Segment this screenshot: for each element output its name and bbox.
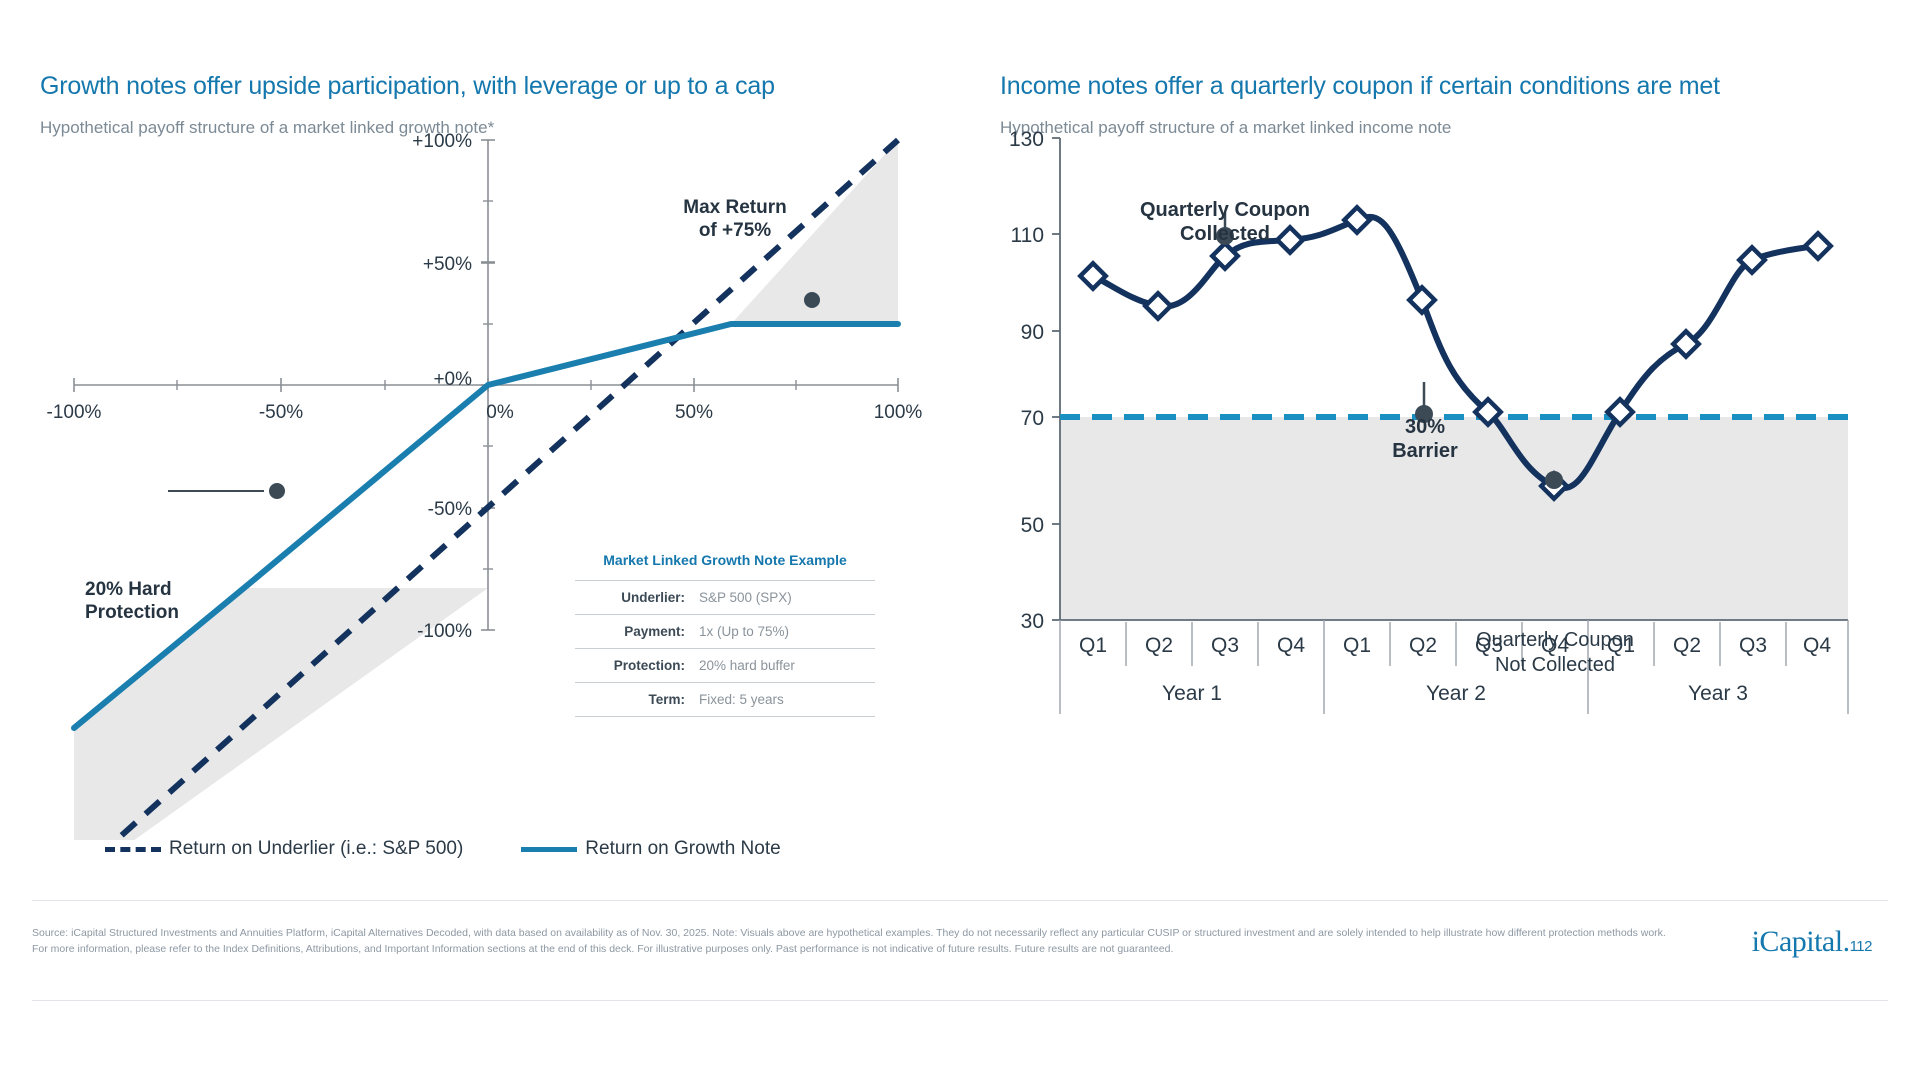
- row-value: Fixed: 5 years: [699, 692, 784, 707]
- table-row: Underlier: S&P 500 (SPX): [575, 580, 875, 614]
- annotation-max-return: Max Return of +75%: [640, 196, 830, 242]
- svg-text:110: 110: [1011, 224, 1044, 247]
- svg-text:0%: 0%: [486, 402, 514, 423]
- x-tick-label: Q3: [1739, 634, 1767, 657]
- row-key: Underlier:: [575, 590, 699, 605]
- legend-label: Return on Growth Note: [585, 838, 780, 860]
- x-group-label: Year 1: [1162, 682, 1222, 705]
- legend-item-underlier[interactable]: Return on Underlier (i.e.: S&P 500): [105, 838, 463, 860]
- brand-logo: iCapital.112: [1752, 925, 1872, 959]
- annotation-barrier: 30% Barrier: [1355, 415, 1495, 464]
- svg-text:+0%: +0%: [433, 369, 472, 390]
- footer-divider-top: [32, 900, 1888, 901]
- row-value: S&P 500 (SPX): [699, 590, 792, 605]
- x-group-label: Year 3: [1688, 682, 1748, 705]
- svg-text:-50%: -50%: [259, 402, 303, 423]
- left-panel-title: Growth notes offer upside participation,…: [40, 72, 775, 101]
- svg-text:-100%: -100%: [47, 402, 102, 423]
- footer-divider-bottom: [32, 1000, 1888, 1001]
- income-notes-panel: Income notes offer a quarterly coupon if…: [960, 0, 1920, 1000]
- svg-text:+50%: +50%: [423, 254, 472, 275]
- annotation-hard-protection: 20% Hard Protection: [85, 578, 185, 624]
- page-number: 112: [1850, 938, 1872, 955]
- svg-text:70: 70: [1021, 407, 1044, 430]
- growth-chart-legend: Return on Underlier (i.e.: S&P 500) Retu…: [105, 838, 781, 860]
- income-note-chart: 130 110 90 70 50 30: [960, 120, 1920, 840]
- svg-text:50%: 50%: [675, 402, 713, 423]
- legend-item-growth-note[interactable]: Return on Growth Note: [521, 838, 780, 860]
- svg-text:130: 130: [1009, 128, 1044, 151]
- x-tick-label: Q2: [1145, 634, 1173, 657]
- row-key: Payment:: [575, 624, 699, 639]
- growth-note-table-title: Market Linked Growth Note Example: [575, 552, 875, 580]
- x-tick-label: Q4: [1803, 634, 1831, 657]
- svg-text:-50%: -50%: [428, 499, 472, 520]
- right-panel-title: Income notes offer a quarterly coupon if…: [1000, 72, 1720, 101]
- footer-source-text: Source: iCapital Structured Investments …: [32, 925, 1672, 958]
- dashed-line-icon: [105, 847, 161, 852]
- x-tick-label: Q1: [1079, 634, 1107, 657]
- row-key: Term:: [575, 692, 699, 707]
- growth-notes-panel: Growth notes offer upside participation,…: [0, 0, 960, 1000]
- svg-text:+100%: +100%: [412, 131, 472, 152]
- x-tick-label: Q3: [1211, 634, 1239, 657]
- solid-line-icon: [521, 847, 577, 852]
- brand-name: iCapital.: [1752, 925, 1850, 958]
- svg-text:-100%: -100%: [417, 621, 472, 642]
- svg-text:50: 50: [1021, 514, 1044, 537]
- slide: Growth notes offer upside participation,…: [0, 0, 1920, 1080]
- row-value: 20% hard buffer: [699, 658, 795, 673]
- x-tick-label: Q1: [1343, 634, 1371, 657]
- annotation-coupon-collected: Quarterly Coupon Collected: [1110, 198, 1340, 247]
- svg-text:90: 90: [1021, 321, 1044, 344]
- x-group-label: Year 2: [1426, 682, 1486, 705]
- table-row: Payment: 1x (Up to 75%): [575, 614, 875, 648]
- svg-text:100%: 100%: [874, 402, 923, 423]
- legend-label: Return on Underlier (i.e.: S&P 500): [169, 838, 463, 860]
- table-row: Protection: 20% hard buffer: [575, 648, 875, 682]
- growth-note-example-table: Market Linked Growth Note Example Underl…: [575, 552, 875, 717]
- svg-text:30: 30: [1021, 610, 1044, 633]
- table-row: Term: Fixed: 5 years: [575, 682, 875, 717]
- annotation-coupon-not-collected: Quarterly Coupon Not Collected: [1430, 628, 1680, 678]
- x-tick-label: Q4: [1277, 634, 1305, 657]
- row-key: Protection:: [575, 658, 699, 673]
- row-value: 1x (Up to 75%): [699, 624, 789, 639]
